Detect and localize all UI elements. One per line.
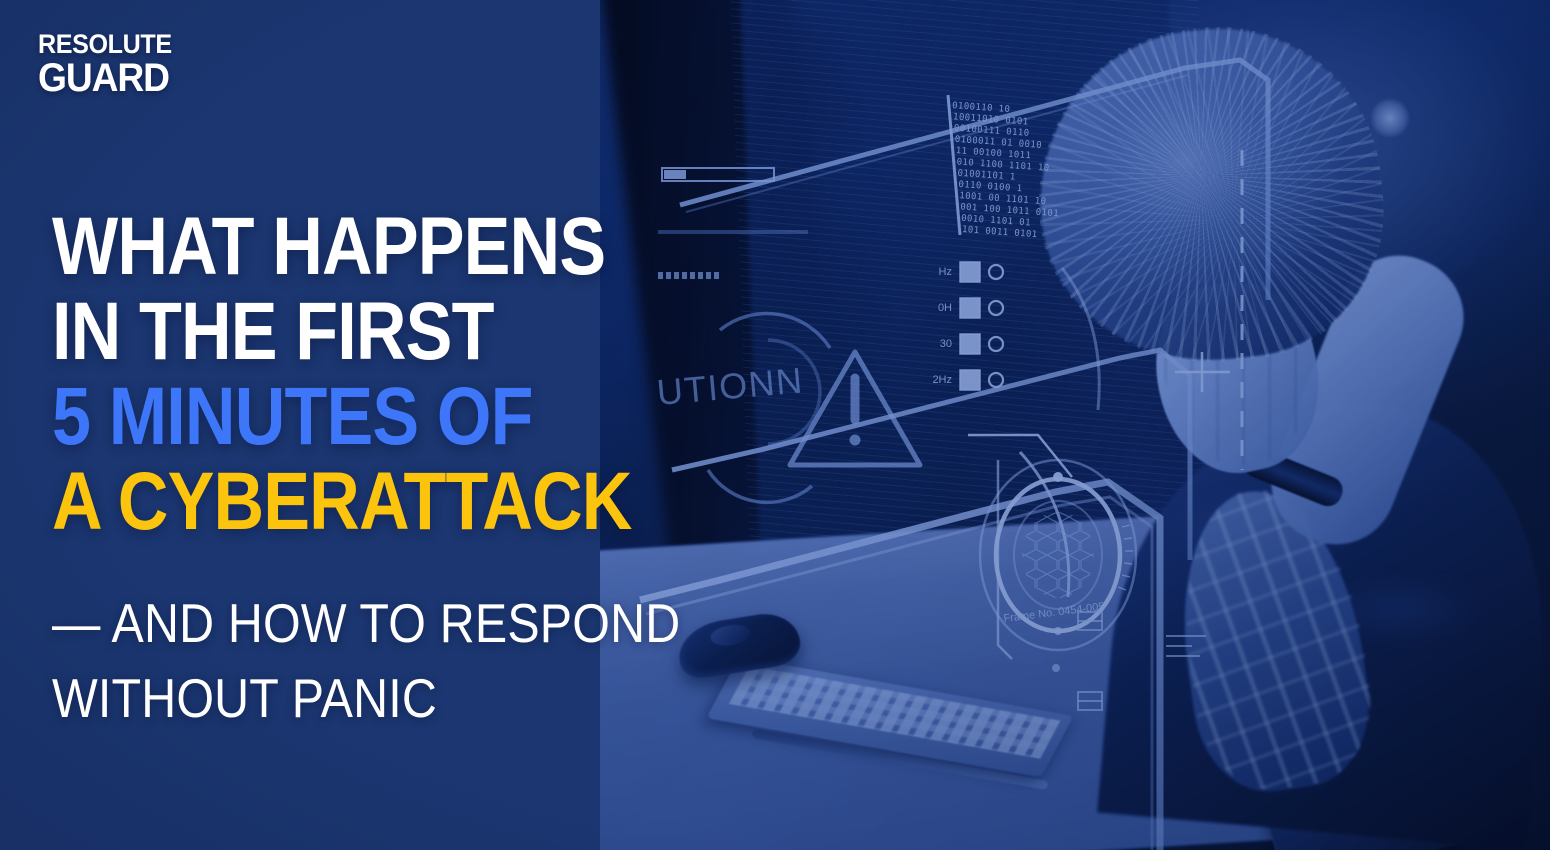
logo-line-guard: GUARD: [38, 59, 172, 97]
headline-line-4: A CYBERATTACK: [52, 459, 632, 544]
subheadline: — AND HOW TO RESPOND WITHOUT PANIC: [52, 586, 766, 736]
subheadline-line-2: WITHOUT PANIC: [52, 661, 680, 736]
headline: WHAT HAPPENS IN THE FIRST 5 MINUTES OF A…: [52, 204, 730, 544]
subheadline-line-1: — AND HOW TO RESPOND: [52, 586, 680, 661]
headline-line-3: 5 MINUTES OF: [52, 374, 632, 459]
logo-line-resolute: RESOLUTE: [38, 32, 172, 58]
headline-line-1: WHAT HAPPENS: [52, 204, 632, 289]
promo-banner: 0100110 1010011010 010100100111 01100100…: [0, 0, 1550, 850]
headline-line-2: IN THE FIRST: [52, 289, 632, 374]
brand-logo[interactable]: RESOLUTE GUARD: [38, 32, 182, 97]
